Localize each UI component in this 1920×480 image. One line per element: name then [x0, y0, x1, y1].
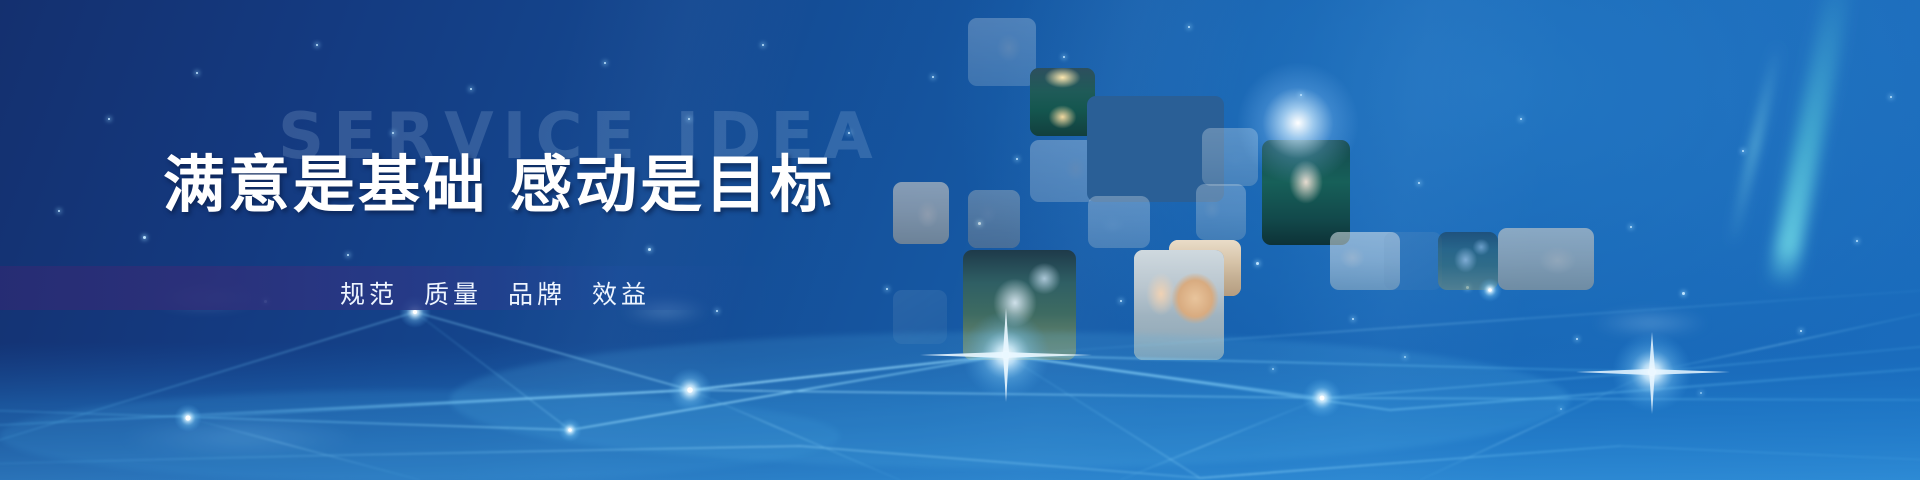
tile-icu-monitoring-room — [1088, 196, 1150, 248]
hero-banner: SERVICE IDEA 满意是基础感动是目标 规范质量品牌效益 — [0, 0, 1920, 480]
tile-medical-ward-equipment — [1202, 128, 1258, 186]
tile-surgeon-profile — [1262, 140, 1350, 245]
subtitle-item-0: 规范 — [340, 280, 398, 309]
tile-xray-viewing — [1384, 232, 1442, 290]
photo-medical-ward-equipment — [1202, 128, 1258, 186]
tile-medical-meeting — [1498, 228, 1594, 290]
photo-surgeon-profile — [1262, 140, 1350, 245]
photo-ventilator-patient — [1438, 232, 1498, 290]
photo-surgical-team-operating — [1030, 68, 1095, 136]
subtitle-item-2: 品牌 — [508, 280, 566, 309]
tile-consultation-examination — [1196, 184, 1246, 240]
page-title: 满意是基础感动是目标 — [163, 134, 835, 224]
photo-medical-meeting — [1498, 228, 1594, 290]
tile-lab-technician — [893, 182, 949, 244]
tile-surgical-team-operating — [1030, 68, 1095, 136]
tile-nurse-at-desk — [1030, 140, 1095, 202]
tile-ventilator-patient — [1438, 232, 1498, 290]
photo-doctor-stethoscope-patient — [1134, 250, 1224, 360]
subtitle-item-1: 质量 — [424, 280, 482, 309]
headline-part-1: 满意是基础 — [163, 148, 488, 221]
photo-icu-monitoring-room — [1088, 196, 1150, 248]
tile-patient-in-bed — [968, 190, 1020, 248]
photo-empty-placeholder — [893, 290, 947, 344]
photo-patient-in-bed — [968, 190, 1020, 248]
photo-lab-technician — [893, 182, 949, 244]
photo-operating-table-patient — [963, 250, 1076, 360]
headline-part-2: 感动是目标 — [510, 148, 835, 221]
tile-operating-table-patient — [963, 250, 1076, 360]
photo-consultation-examination — [1196, 184, 1246, 240]
subtitle-item-3: 效益 — [592, 280, 650, 309]
photo-xray-viewing — [1384, 232, 1442, 290]
tile-doctor-stethoscope-patient — [1134, 250, 1224, 360]
subtitle-list: 规范质量品牌效益 — [340, 275, 650, 311]
tile-doctor-with-elderly-patient — [968, 18, 1036, 86]
tile-empty-placeholder — [893, 290, 947, 344]
photo-doctor-with-elderly-patient — [968, 18, 1036, 86]
photo-nurse-at-desk — [1030, 140, 1095, 202]
